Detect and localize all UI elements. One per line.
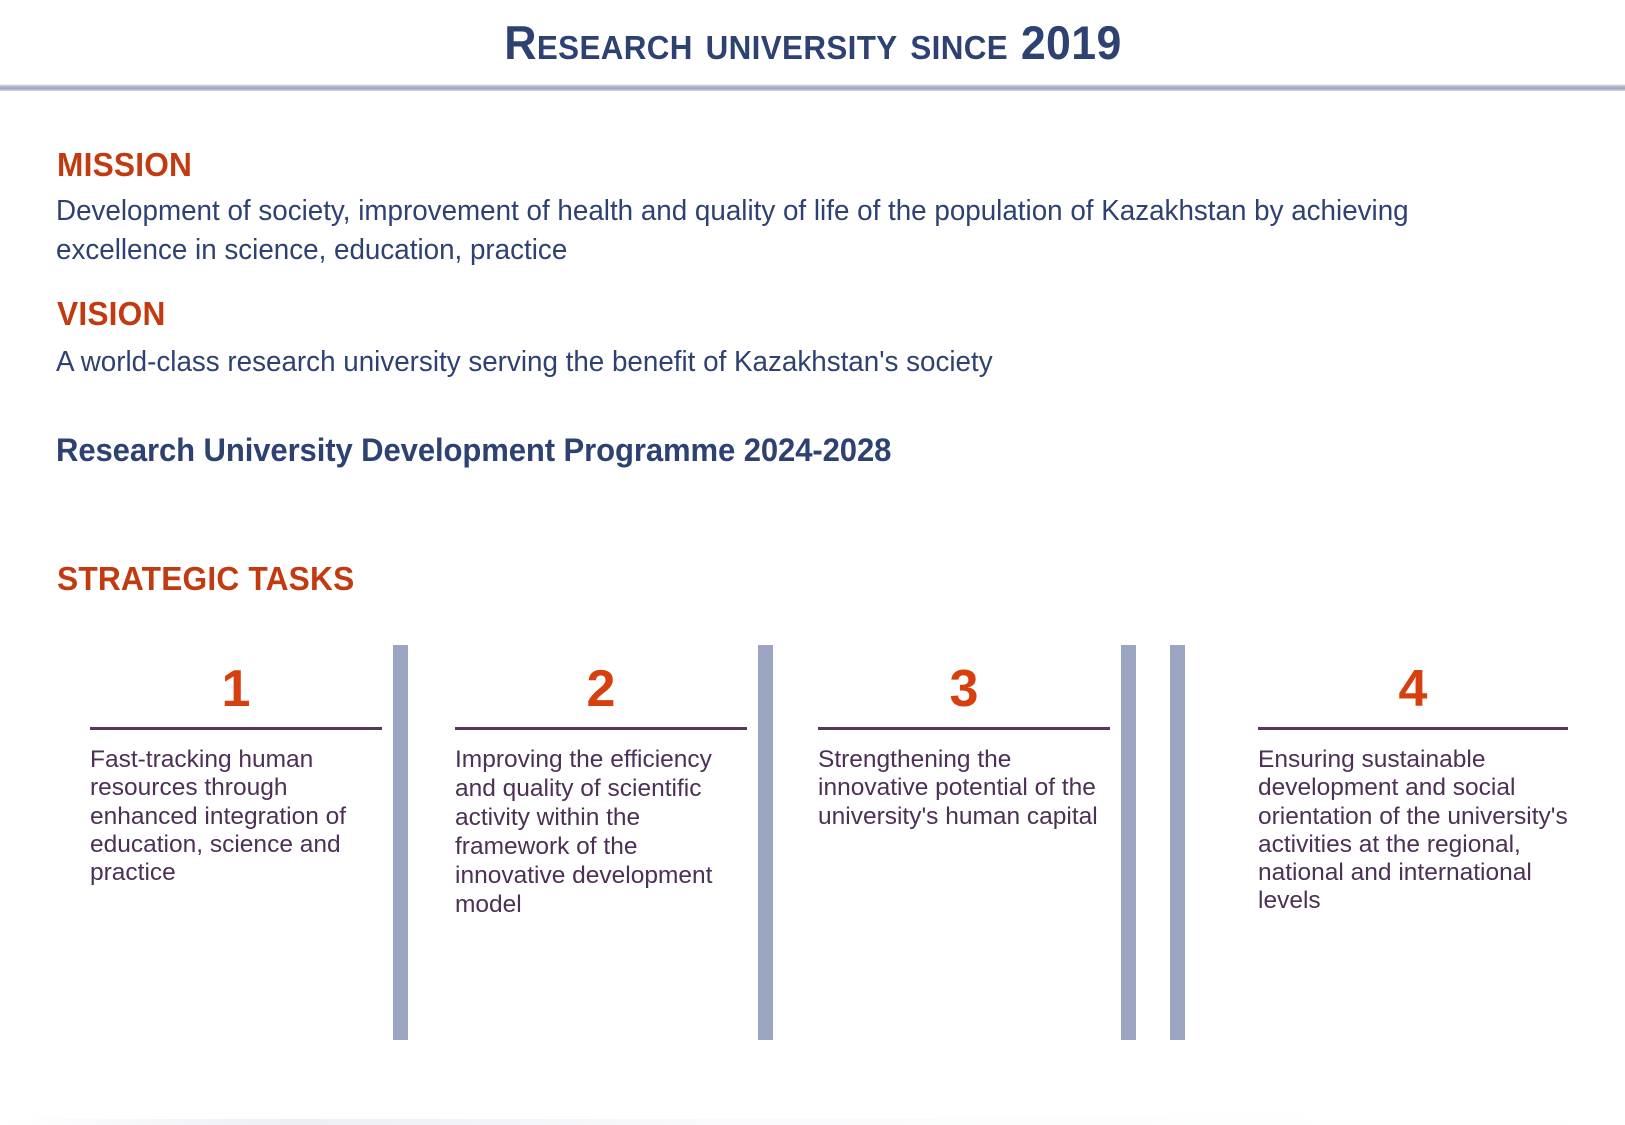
strategic-task-card-1[interactable]: 1 Fast-tracking human resources through … — [80, 645, 408, 1040]
strategic-task-card-3[interactable]: 3 Strengthening the innovative potential… — [808, 645, 1136, 1040]
vision-text: A world-class research university servin… — [56, 343, 1421, 382]
card-number: 4 — [1258, 645, 1568, 727]
card-accent-bar-icon — [758, 645, 773, 1040]
slide: Research university since 2019 MISSION D… — [0, 0, 1625, 1125]
slide-header: Research university since 2019 — [0, 0, 1625, 84]
vision-label: VISION — [57, 295, 166, 333]
card-content: 4 Ensuring sustainable development and s… — [1258, 645, 1568, 916]
card-number: 1 — [90, 645, 382, 727]
bottom-shadow-edge — [0, 1119, 1625, 1125]
card-accent-bar-icon — [1121, 645, 1136, 1040]
programme-heading: Research University Development Programm… — [56, 432, 891, 469]
card-content: 3 Strengthening the innovative potential… — [818, 645, 1110, 831]
card-divider-rule — [818, 727, 1110, 730]
card-description: Ensuring sustainable development and soc… — [1258, 746, 1568, 916]
mission-label: MISSION — [57, 146, 192, 184]
strategic-task-card-2[interactable]: 2 Improving the efficiency and quality o… — [445, 645, 773, 1040]
card-description: Fast-tracking human resources through en… — [90, 746, 382, 887]
card-divider-rule — [90, 727, 382, 730]
mission-text: Development of society, improvement of h… — [56, 192, 1421, 271]
header-divider-rule — [0, 84, 1625, 91]
strategic-tasks-label: STRATEGIC TASKS — [57, 560, 354, 598]
page-title: Research university since 2019 — [504, 15, 1121, 70]
card-number: 2 — [455, 645, 747, 727]
card-number: 3 — [818, 645, 1110, 727]
card-description: Strengthening the innovative potential o… — [818, 746, 1110, 831]
strategic-task-card-4[interactable]: 4 Ensuring sustainable development and s… — [1170, 645, 1560, 1040]
card-divider-rule — [1258, 727, 1568, 730]
card-divider-rule — [455, 727, 747, 730]
strategic-tasks-cards: 1 Fast-tracking human resources through … — [80, 645, 1560, 1040]
card-accent-bar-icon — [1170, 645, 1185, 1040]
card-accent-bar-icon — [393, 645, 408, 1040]
card-content: 1 Fast-tracking human resources through … — [90, 645, 382, 887]
card-content: 2 Improving the efficiency and quality o… — [455, 645, 747, 919]
card-description: Improving the efficiency and quality of … — [455, 746, 747, 919]
